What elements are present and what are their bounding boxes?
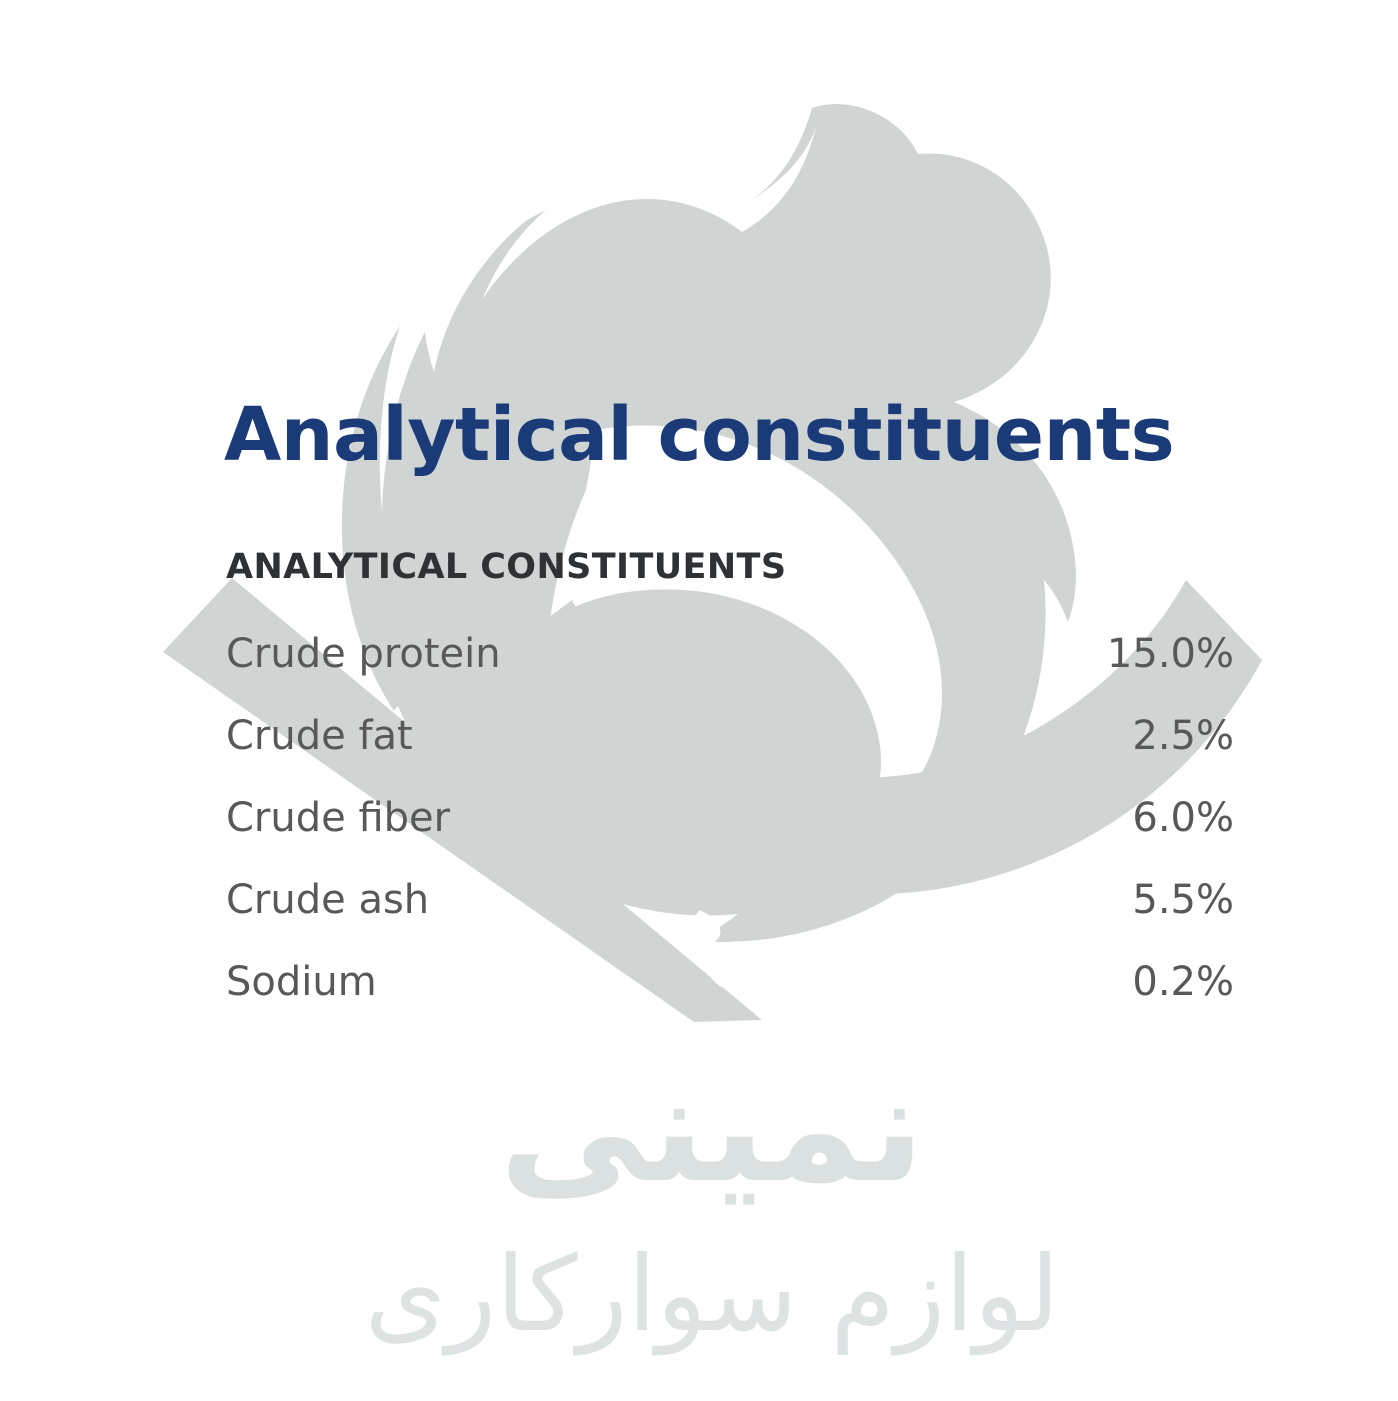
row-value: 5.5%	[915, 859, 1234, 941]
table-row: Crude ash 5.5%	[226, 859, 1234, 941]
row-label: Crude fat	[226, 695, 915, 777]
table-row: Sodium 0.2%	[226, 941, 1234, 1023]
row-value: 2.5%	[915, 695, 1234, 777]
table-row: Crude fat 2.5%	[226, 695, 1234, 777]
page-title: Analytical constituents	[224, 398, 1284, 472]
row-label: Crude ash	[226, 859, 915, 941]
table-row: Crude protein 15.0%	[226, 613, 1234, 695]
row-value: 0.2%	[915, 941, 1234, 1023]
row-value: 15.0%	[915, 613, 1234, 695]
analytical-constituents-section: ANALYTICAL CONSTITUENTS Crude protein 15…	[226, 548, 1234, 1023]
row-value: 6.0%	[915, 777, 1234, 859]
table-row: Crude fiber 6.0%	[226, 777, 1234, 859]
row-label: Crude protein	[226, 613, 915, 695]
row-label: Sodium	[226, 941, 915, 1023]
table-heading: ANALYTICAL CONSTITUENTS	[226, 548, 1234, 587]
row-label: Crude fiber	[226, 777, 915, 859]
content-layer: Analytical constituents ANALYTICAL CONST…	[0, 0, 1398, 1401]
constituents-table: Crude protein 15.0% Crude fat 2.5% Crude…	[226, 613, 1234, 1023]
constituents-table-body: Crude protein 15.0% Crude fat 2.5% Crude…	[226, 613, 1234, 1023]
